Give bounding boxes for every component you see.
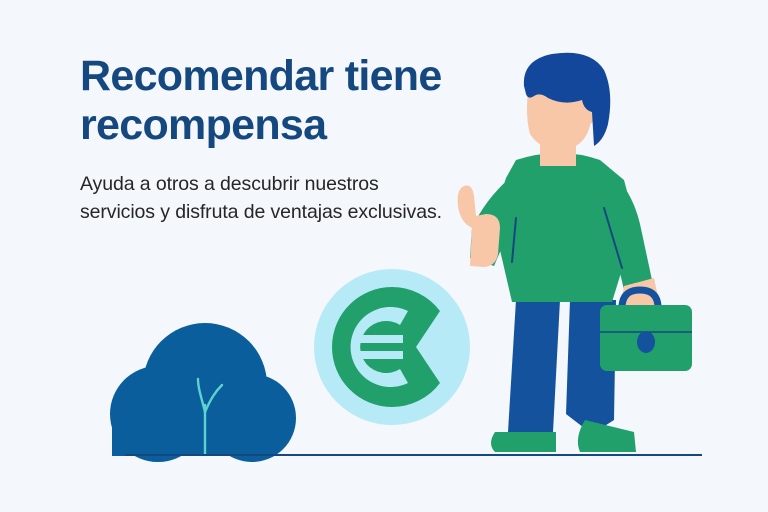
bush-base (112, 410, 262, 456)
page-title: Recomendar tiene recompensa (80, 52, 500, 149)
shoe-back (491, 432, 556, 452)
referral-promo-banner: Recomendar tiene recompensa Ayuda a otro… (0, 0, 768, 512)
euro-bar-bottom (355, 351, 403, 359)
subtitle: Ayuda a otros a descubrir nuestros servi… (80, 171, 500, 226)
euro-bar-top (355, 335, 403, 343)
text-block: Recomendar tiene recompensa Ayuda a otro… (80, 52, 500, 227)
leg-back (508, 300, 560, 432)
briefcase-clasp (637, 331, 655, 353)
